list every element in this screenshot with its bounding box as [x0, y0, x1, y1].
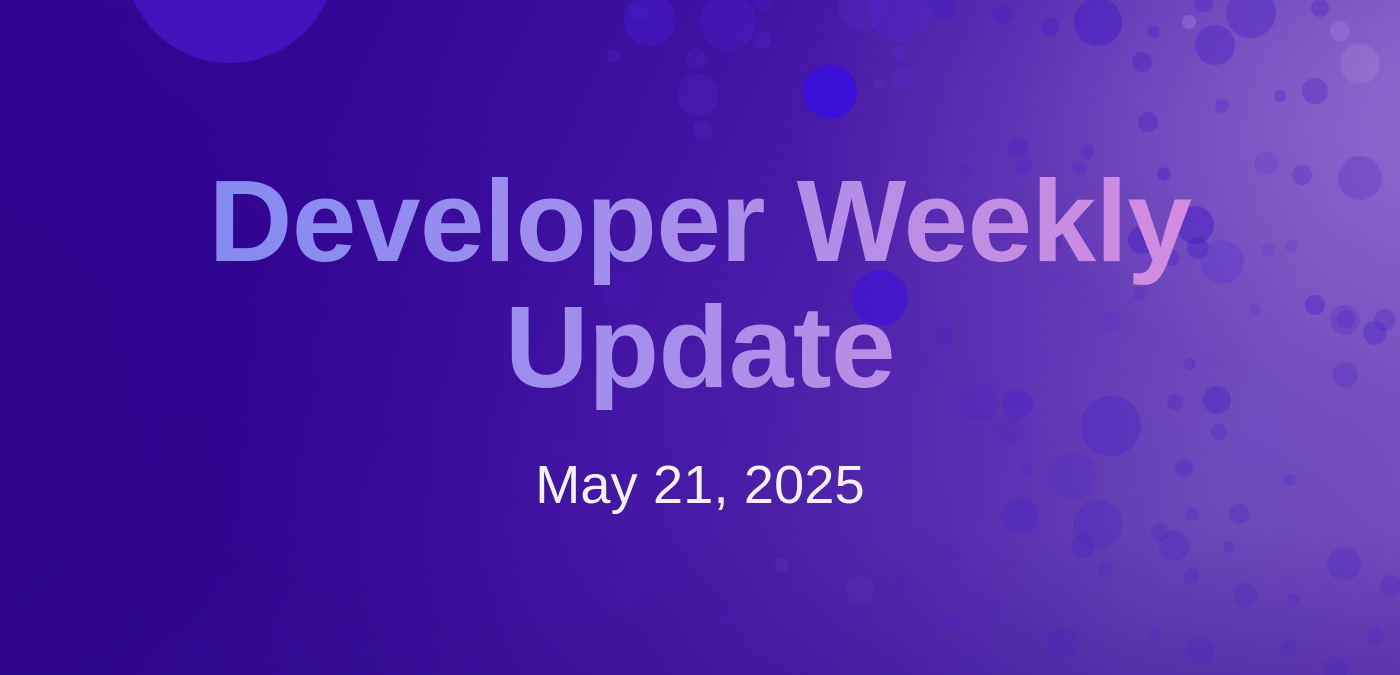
page-title: Developer Weekly Update — [110, 159, 1290, 411]
title-line-1: Developer — [209, 156, 765, 286]
slide-canvas: Developer Weekly Update May 21, 2025 — [0, 0, 1400, 675]
slide-date-subtitle: May 21, 2025 — [535, 454, 865, 516]
slide-content: Developer Weekly Update May 21, 2025 — [0, 0, 1400, 675]
